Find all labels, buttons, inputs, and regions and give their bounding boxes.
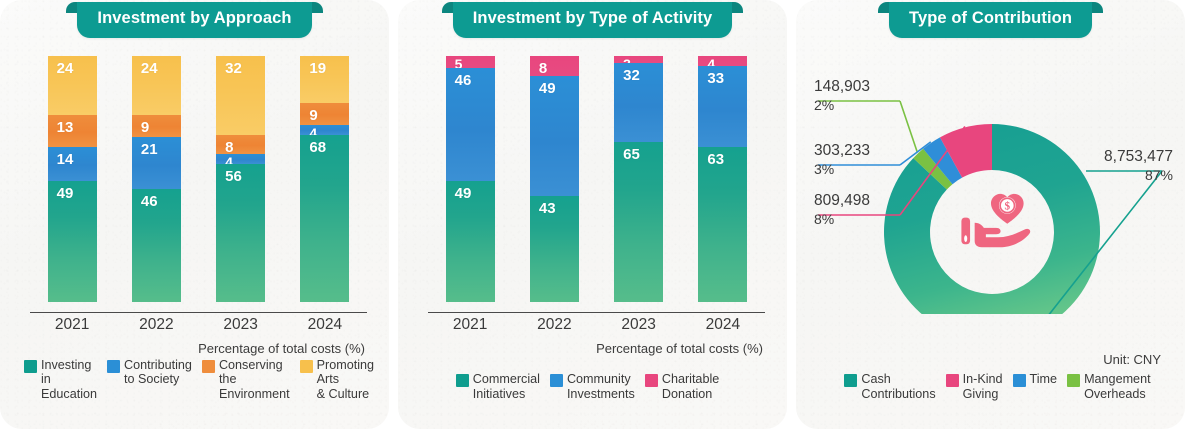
bar-segment: 68 xyxy=(300,135,349,302)
panel-title: Investment by Approach xyxy=(77,2,311,38)
legend-label: Cash Contributions xyxy=(861,372,935,401)
callout-percent: 87% xyxy=(1104,166,1173,185)
title-wrap: Investment by Approach xyxy=(0,2,389,38)
legend-swatch-icon xyxy=(24,360,37,373)
bar-column: 43363 xyxy=(698,56,747,302)
legend-label: Promoting Arts & Culture xyxy=(317,358,379,402)
legend-item-conserving-the-environment[interactable]: Conserving the Environment xyxy=(202,358,300,402)
callout-mangement-overheads: 148,903 2% xyxy=(814,77,870,115)
bar-value-label: 49 xyxy=(530,76,556,96)
legend-label: Mangement Overheads xyxy=(1084,372,1151,401)
x-axis-labels: 2021202220232024 xyxy=(30,316,367,334)
callout-percent: 3% xyxy=(814,160,870,179)
legend-swatch-icon xyxy=(202,360,215,373)
bar-value-label: 14 xyxy=(48,147,74,167)
bar-segment: 63 xyxy=(698,147,747,302)
legend-swatch-icon xyxy=(645,374,658,387)
bar-chart-approach: 241314492492146328456199468 xyxy=(0,44,389,312)
legend-item-mangement-overheads[interactable]: Mangement Overheads xyxy=(1067,372,1161,401)
bar-segment: 8 xyxy=(216,135,265,155)
callout-value: 809,498 xyxy=(814,191,870,210)
bar-segment: 8 xyxy=(530,56,579,76)
bar-segment: 46 xyxy=(132,189,181,302)
bar-value-label: 24 xyxy=(132,56,158,76)
legend-item-in-kind-giving[interactable]: In-Kind Giving xyxy=(946,372,1013,401)
bar-segment: 65 xyxy=(614,142,663,302)
title-wrap: Type of Contribution xyxy=(796,2,1185,38)
bar-segment: 49 xyxy=(446,181,495,302)
bar-segment: 56 xyxy=(216,164,265,302)
legend-item-time[interactable]: Time xyxy=(1013,372,1068,401)
bar-value-label: 9 xyxy=(300,103,317,123)
bar-value-label: 46 xyxy=(132,189,158,209)
panel-title: Investment by Type of Activity xyxy=(453,2,733,38)
bar-column: 54649 xyxy=(446,56,495,302)
bar-value-label: 33 xyxy=(698,66,724,86)
callout-value: 148,903 xyxy=(814,77,870,96)
x-axis-label: 2022 xyxy=(530,316,579,334)
x-axis-line xyxy=(30,312,367,313)
callout-percent: 8% xyxy=(814,210,870,229)
axis-caption: Percentage of total costs (%) xyxy=(198,341,365,356)
legend-item-contributing-to-society[interactable]: Contributing to Society xyxy=(107,358,202,402)
x-axis-label: 2021 xyxy=(446,316,495,334)
callout-value: 8,753,477 xyxy=(1104,147,1173,166)
donut-leader-line xyxy=(900,101,917,153)
bar-value-label: 8 xyxy=(216,135,233,155)
bar-segment: 32 xyxy=(614,63,663,142)
bar-segment: 32 xyxy=(216,56,265,135)
legend-swatch-icon xyxy=(1013,374,1026,387)
bar-value-label: 19 xyxy=(300,56,326,76)
card-investment-by-type-of-activity: Investment by Type of Activity 546498494… xyxy=(398,0,787,429)
legend: Investing in EducationContributing to So… xyxy=(0,358,389,402)
bar-column: 84943 xyxy=(530,56,579,302)
legend-swatch-icon xyxy=(550,374,563,387)
bar-value-label: 68 xyxy=(300,135,326,155)
legend-label: Time xyxy=(1030,372,1058,387)
bar-segment: 21 xyxy=(132,137,181,189)
callout-time: 303,233 3% xyxy=(814,141,870,179)
legend-swatch-icon xyxy=(300,360,313,373)
legend-label: Investing in Education xyxy=(41,358,97,402)
bar-value-label: 13 xyxy=(48,115,74,135)
bar-column: 328456 xyxy=(216,56,265,302)
legend-item-promoting-arts-culture[interactable]: Promoting Arts & Culture xyxy=(300,358,389,402)
svg-text:$: $ xyxy=(1004,201,1010,213)
bar-group: 54649849433326543363 xyxy=(428,56,765,302)
legend-item-commercial-initiatives[interactable]: Commercial Initiatives xyxy=(456,372,550,401)
bar-chart-activity: 54649849433326543363 xyxy=(398,44,787,312)
x-axis-label: 2024 xyxy=(300,316,349,334)
bar-column: 2492146 xyxy=(132,56,181,302)
plot-area: 54649849433326543363 xyxy=(428,56,765,302)
x-axis-label: 2021 xyxy=(48,316,97,334)
bar-segment: 3 xyxy=(614,56,663,63)
legend-swatch-icon xyxy=(946,374,959,387)
bar-column: 24131449 xyxy=(48,56,97,302)
bar-value-label: 49 xyxy=(446,181,472,201)
x-axis-label: 2024 xyxy=(698,316,747,334)
bar-value-label: 32 xyxy=(216,56,242,76)
legend-label: Charitable Donation xyxy=(662,372,719,401)
x-axis-line xyxy=(428,312,765,313)
legend-label: Commercial Initiatives xyxy=(473,372,540,401)
legend-swatch-icon xyxy=(456,374,469,387)
bar-segment: 24 xyxy=(132,56,181,115)
unit-label: Unit: CNY xyxy=(1103,352,1161,367)
legend-swatch-icon xyxy=(1067,374,1080,387)
bar-segment: 4 xyxy=(216,154,265,164)
bar-value-label: 9 xyxy=(132,115,149,135)
bar-column: 199468 xyxy=(300,56,349,302)
bar-value-label: 46 xyxy=(446,68,472,88)
bar-value-label: 63 xyxy=(698,147,724,167)
hand-holding-heart-dollar-icon: $ xyxy=(961,194,1030,247)
bar-segment: 24 xyxy=(48,56,97,115)
bar-segment: 19 xyxy=(300,56,349,103)
card-type-of-contribution: Type of Contribution xyxy=(796,0,1185,429)
bar-value-label: 65 xyxy=(614,142,640,162)
card-investment-by-approach: Investment by Approach 24131449249214632… xyxy=(0,0,389,429)
callout-percent: 2% xyxy=(814,96,870,115)
bar-segment: 33 xyxy=(698,66,747,147)
plot-area: 241314492492146328456199468 xyxy=(30,56,367,302)
bar-segment: 4 xyxy=(698,56,747,66)
bar-segment: 49 xyxy=(530,76,579,197)
legend-swatch-icon xyxy=(107,360,120,373)
legend: Commercial InitiativesCommunity Investme… xyxy=(398,372,787,401)
legend-label: Contributing to Society xyxy=(124,358,192,387)
legend-item-cash-contributions[interactable]: Cash Contributions xyxy=(844,372,945,401)
legend-label: In-Kind Giving xyxy=(963,372,1003,401)
legend: Cash ContributionsIn-Kind GivingTimeMang… xyxy=(796,372,1185,401)
legend-swatch-icon xyxy=(844,374,857,387)
bar-segment: 49 xyxy=(48,181,97,302)
legend-item-investing-in-education[interactable]: Investing in Education xyxy=(24,358,107,402)
infographic-page: Investment by Approach 24131449249214632… xyxy=(0,0,1186,429)
bar-value-label: 43 xyxy=(530,196,556,216)
legend-item-charitable-donation[interactable]: Charitable Donation xyxy=(645,372,729,401)
bar-segment: 4 xyxy=(300,125,349,135)
bar-value-label: 56 xyxy=(216,164,242,184)
bar-value-label: 49 xyxy=(48,181,74,201)
panel-title: Type of Contribution xyxy=(889,2,1092,38)
title-wrap: Investment by Type of Activity xyxy=(398,2,787,38)
x-axis-label: 2023 xyxy=(614,316,663,334)
donut-chart-contribution: $ 148,903 2% 303,233 3% 809,498 8% 8,753… xyxy=(796,44,1185,314)
bar-value-label: 24 xyxy=(48,56,74,76)
bar-column: 33265 xyxy=(614,56,663,302)
callout-value: 303,233 xyxy=(814,141,870,160)
bar-segment: 13 xyxy=(48,115,97,147)
x-axis-label: 2022 xyxy=(132,316,181,334)
axis-caption: Percentage of total costs (%) xyxy=(596,341,763,356)
bar-value-label: 32 xyxy=(614,63,640,83)
x-axis-label: 2023 xyxy=(216,316,265,334)
callout-cash-contributions: 8,753,477 87% xyxy=(1104,147,1173,185)
bar-segment: 5 xyxy=(446,56,495,68)
legend-item-community-investments[interactable]: Community Investments xyxy=(550,372,645,401)
bar-segment: 46 xyxy=(446,68,495,181)
bar-group: 241314492492146328456199468 xyxy=(30,56,367,302)
x-axis-labels: 2021202220232024 xyxy=(428,316,765,334)
bar-segment: 14 xyxy=(48,147,97,181)
bar-segment: 43 xyxy=(530,196,579,302)
bar-segment: 9 xyxy=(132,115,181,137)
legend-label: Conserving the Environment xyxy=(219,358,290,402)
callout-in-kind-giving: 809,498 8% xyxy=(814,191,870,229)
bar-value-label: 21 xyxy=(132,137,158,157)
legend-label: Community Investments xyxy=(567,372,635,401)
bar-segment: 9 xyxy=(300,103,349,125)
bar-value-label: 8 xyxy=(530,56,547,76)
